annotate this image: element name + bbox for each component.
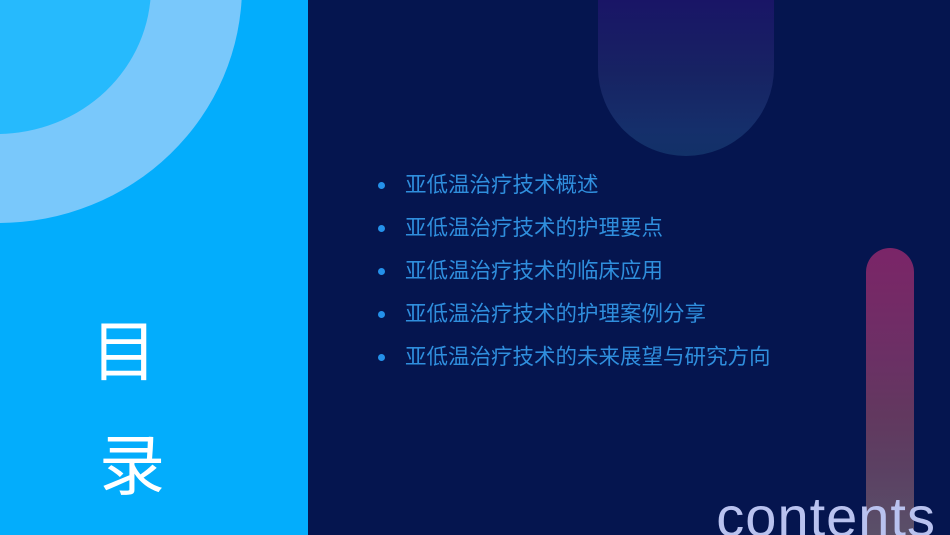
vertical-slide-title: 目 录 xyxy=(0,296,250,524)
list-item-label: 亚低温治疗技术的护理案例分享 xyxy=(405,297,706,328)
contents-wordmark: contents xyxy=(716,489,936,535)
list-item-label: 亚低温治疗技术概述 xyxy=(405,168,599,199)
bullet-dot-icon xyxy=(378,346,405,367)
list-item[interactable]: 亚低温治疗技术的护理案例分享 xyxy=(378,297,898,340)
list-item-label: 亚低温治疗技术的未来展望与研究方向 xyxy=(405,340,771,371)
bullet-dot-icon xyxy=(378,174,405,195)
list-item[interactable]: 亚低温治疗技术的护理要点 xyxy=(378,211,898,254)
list-item[interactable]: 亚低温治疗技术的临床应用 xyxy=(378,254,898,297)
bullet-dot-icon xyxy=(378,217,405,238)
bullet-dot-icon xyxy=(378,260,405,281)
list-item[interactable]: 亚低温治疗技术的未来展望与研究方向 xyxy=(378,340,898,383)
list-item-label: 亚低温治疗技术的临床应用 xyxy=(405,254,663,285)
table-of-contents-list: 亚低温治疗技术概述 亚低温治疗技术的护理要点 亚低温治疗技术的临床应用 亚低温治… xyxy=(378,168,898,383)
list-item-label: 亚低温治疗技术的护理要点 xyxy=(405,211,663,242)
vertical-title-char-1: 目 xyxy=(0,296,250,410)
slide-canvas: 目 录 亚低温治疗技术概述 亚低温治疗技术的护理要点 亚低温治疗技术的临床应用 … xyxy=(0,0,950,535)
list-item[interactable]: 亚低温治疗技术概述 xyxy=(378,168,898,211)
vertical-title-char-2: 录 xyxy=(0,410,250,524)
bullet-dot-icon xyxy=(378,303,405,324)
